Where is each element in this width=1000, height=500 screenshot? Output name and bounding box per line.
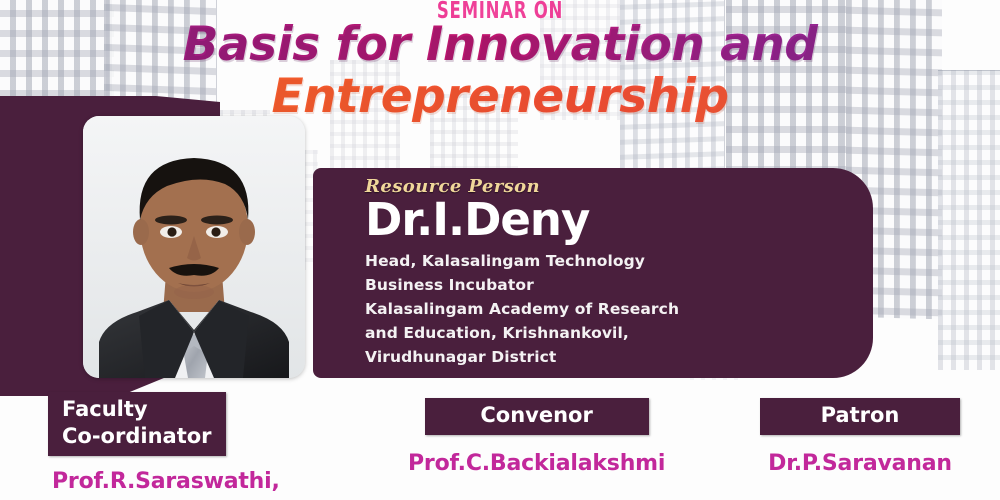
resource-person-affiliation: Head, Kalasalingam Technology Business I… [365,249,873,369]
role-person-name: Prof.C.Backialakshmi [408,451,665,476]
role-block-patron: Patron Dr.P.Saravanan [760,398,960,476]
role-person-name: Dr.P.Saravanan [760,451,960,476]
role-title-line: Patron [774,402,946,429]
affiliation-line: Virudhunagar District [365,345,873,369]
poster-title-line2: Entrepreneurship [0,69,1000,124]
portrait-photo [83,116,305,378]
resource-person-name: Dr.I.Deny [365,195,873,245]
role-title-box: Faculty Co-ordinator [48,392,226,456]
role-block-convenor: Convenor Prof.C.Backialakshmi [408,398,665,476]
avatar [83,116,305,378]
affiliation-line: Kalasalingam Academy of Research [365,297,873,321]
role-block-faculty-coordinator: Faculty Co-ordinator Prof.R.Saraswathi, [48,392,280,494]
resource-person-card: Resource Person Dr.I.Deny Head, Kalasali… [313,168,873,378]
role-title-box: Patron [760,398,960,435]
role-title-box: Convenor [425,398,649,435]
seminar-poster: SEMINAR ON Basis for Innovation and Entr… [0,0,1000,500]
poster-title-line1: Basis for Innovation and [0,17,1000,72]
role-title-line: Convenor [439,402,635,429]
role-person-name: Prof.R.Saraswathi, [52,469,280,494]
affiliation-line: and Education, Krishnankovil, [365,321,873,345]
role-title-line: Faculty [62,396,212,423]
affiliation-line: Business Incubator [365,273,873,297]
affiliation-line: Head, Kalasalingam Technology [365,249,873,273]
role-title-line: Co-ordinator [62,423,212,450]
